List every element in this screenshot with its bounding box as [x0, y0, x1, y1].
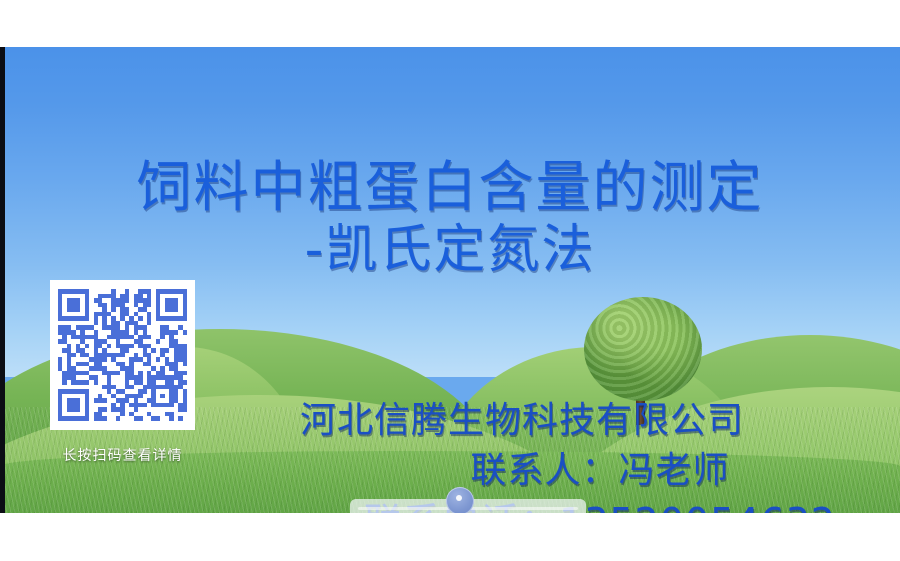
qr-code[interactable] — [50, 280, 195, 430]
play-button-icon[interactable] — [446, 487, 474, 513]
video-frame-clip: 饲料中粗蛋白含量的测定 -凯氏定氮法 河北信腾生物科技有限公司 联系人：冯老师 … — [0, 47, 900, 513]
company-info-block: 河北信腾生物科技有限公司 联系人：冯老师 联系电话：13520054632 — [300, 399, 900, 513]
video-control-bar[interactable] — [350, 499, 586, 513]
play-button-dot — [456, 495, 462, 501]
video-player-frame[interactable]: 饲料中粗蛋白含量的测定 -凯氏定氮法 河北信腾生物科技有限公司 联系人：冯老师 … — [0, 47, 900, 513]
qr-code-matrix — [58, 289, 187, 421]
page-title: 饲料中粗蛋白含量的测定 — [0, 157, 900, 219]
screenshot-root: 饲料中粗蛋白含量的测定 -凯氏定氮法 河北信腾生物科技有限公司 联系人：冯老师 … — [0, 0, 900, 561]
tree-canopy — [584, 297, 702, 401]
qr-code-caption: 长按扫码查看详情 — [50, 445, 195, 465]
contact-person: 联系人：冯老师 — [300, 449, 900, 493]
letterbox-left-edge — [0, 47, 5, 513]
page-subtitle: -凯氏定氮法 — [0, 221, 900, 279]
slide-title-block: 饲料中粗蛋白含量的测定 -凯氏定氮法 — [0, 157, 900, 279]
company-name: 河北信腾生物科技有限公司 — [300, 399, 900, 443]
